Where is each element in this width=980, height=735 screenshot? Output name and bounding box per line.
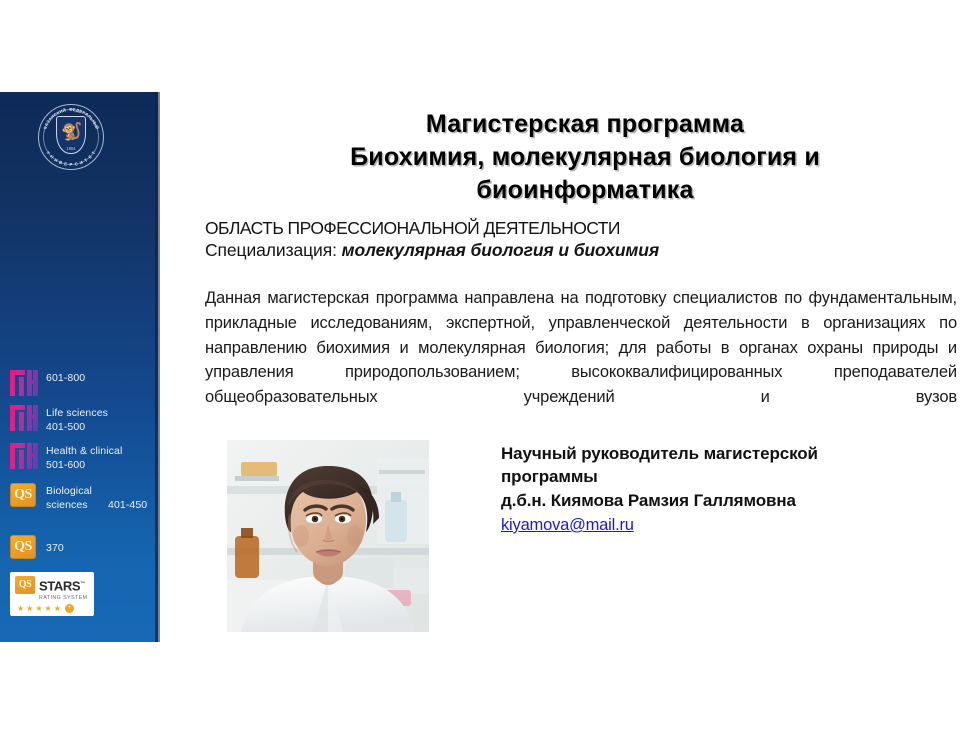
ranking-category: Life sciences: [46, 406, 108, 420]
ranking-value: 401-500: [46, 420, 108, 434]
qs-logo-icon: QS: [10, 483, 38, 509]
program-description: Данная магистерская программа направлена…: [205, 286, 957, 435]
kfu-crest-logo: КАЗАНСКИЙ ФЕДЕРАЛЬНЫЙУНИВЕРСИТЕТ 🐒 1804: [38, 104, 104, 170]
left-sidebar: КАЗАНСКИЙ ФЕДЕРАЛЬНЫЙУНИВЕРСИТЕТ 🐒 1804 …: [0, 92, 158, 642]
rankings-list: 601-800 Life sciences 401-500 Health & c…: [10, 370, 158, 570]
specialization-line: Специализация: молекулярная биология и б…: [205, 240, 659, 261]
qs-stars-wordmark: STARS™: [39, 578, 85, 592]
qs-stars-subtitle: RATING SYSTEM: [39, 595, 89, 601]
professional-field-label: ОБЛАСТЬ ПРОФЕССИОНАЛЬНОЙ ДЕЯТЕЛЬНОСТИ: [205, 218, 620, 239]
ranking-row-the-health-clinical: Health & clinical 501-600: [10, 443, 158, 472]
title-line-2: Биохимия, молекулярная биология и: [205, 141, 965, 174]
ranking-text: 601-800: [46, 370, 85, 385]
trademark-symbol: ™: [80, 581, 85, 587]
presentation-slide: КАЗАНСКИЙ ФЕДЕРАЛЬНЫЙУНИВЕРСИТЕТ 🐒 1804 …: [0, 0, 980, 735]
ranking-value: 501-600: [46, 458, 122, 472]
slide-content: Магистерская программа Биохимия, молекул…: [205, 0, 970, 735]
ranking-value: 601-800: [46, 371, 85, 385]
the-logo-icon: [10, 370, 38, 396]
crest-shield-icon: 🐒 1804: [56, 116, 86, 154]
ranking-value: 370: [46, 536, 64, 555]
sidebar-right-edge: [155, 92, 158, 642]
qs-stars-word-text: STARS: [39, 578, 80, 593]
ranking-category: Health & clinical: [46, 444, 122, 458]
ranking-text: Life sciences 401-500: [46, 405, 108, 434]
ranking-row-qs-biological-sciences: QS Biological sciences 401-450: [10, 483, 158, 526]
ranking-row-the-overall: 601-800: [10, 370, 158, 396]
page-title: Магистерская программа Биохимия, молекул…: [205, 108, 965, 207]
crest-year: 1804: [57, 146, 85, 151]
supervisor-role-line-2: программы: [501, 466, 951, 489]
ranking-text: 370: [46, 535, 64, 555]
title-line-1: Магистерская программа: [205, 108, 965, 141]
qs-stars-header: QS STARS™: [15, 576, 89, 594]
star-icon: ★: [35, 605, 42, 613]
ranking-row-the-life-sciences: Life sciences 401-500: [10, 405, 158, 434]
qs-stars-badge: QS STARS™ RATING SYSTEM ★ ★ ★ ★ ★ +: [10, 572, 94, 616]
title-line-3: биоинформатика: [205, 174, 965, 207]
qs-stars-rating-row: ★ ★ ★ ★ ★ +: [15, 604, 89, 613]
ranking-value: 401-450: [108, 498, 158, 512]
star-icon: ★: [17, 605, 24, 613]
supervisor-photo: [227, 440, 429, 632]
supervisor-block: Научный руководитель магистерской програ…: [501, 443, 951, 535]
ranking-row-qs-overall: QS 370: [10, 535, 158, 561]
star-icon: ★: [26, 605, 33, 613]
the-logo-icon: [10, 443, 38, 469]
qs-logo-icon: QS: [10, 535, 38, 561]
the-logo-icon: [10, 405, 38, 431]
specialization-value: молекулярная биология и биохимия: [342, 240, 659, 260]
star-icon: ★: [54, 605, 61, 613]
supervisor-name: д.б.н. Киямова Рамзия Галлямовна: [501, 489, 951, 512]
griffin-icon: 🐒: [61, 122, 82, 142]
supervisor-email-link[interactable]: kiyamova@mail.ru: [501, 515, 634, 535]
star-icon: ★: [45, 605, 52, 613]
specialization-label: Специализация:: [205, 240, 337, 260]
supervisor-role: Научный руководитель магистерской програ…: [501, 443, 951, 488]
ranking-text: Health & clinical 501-600: [46, 443, 122, 472]
star-plus-badge-icon: +: [65, 604, 74, 613]
ranking-category: Biological sciences: [46, 484, 116, 512]
ranking-text: Biological sciences 401-450: [46, 483, 116, 526]
supervisor-role-line-1: Научный руководитель магистерской: [501, 443, 951, 466]
qs-mark-icon: QS: [15, 576, 35, 594]
